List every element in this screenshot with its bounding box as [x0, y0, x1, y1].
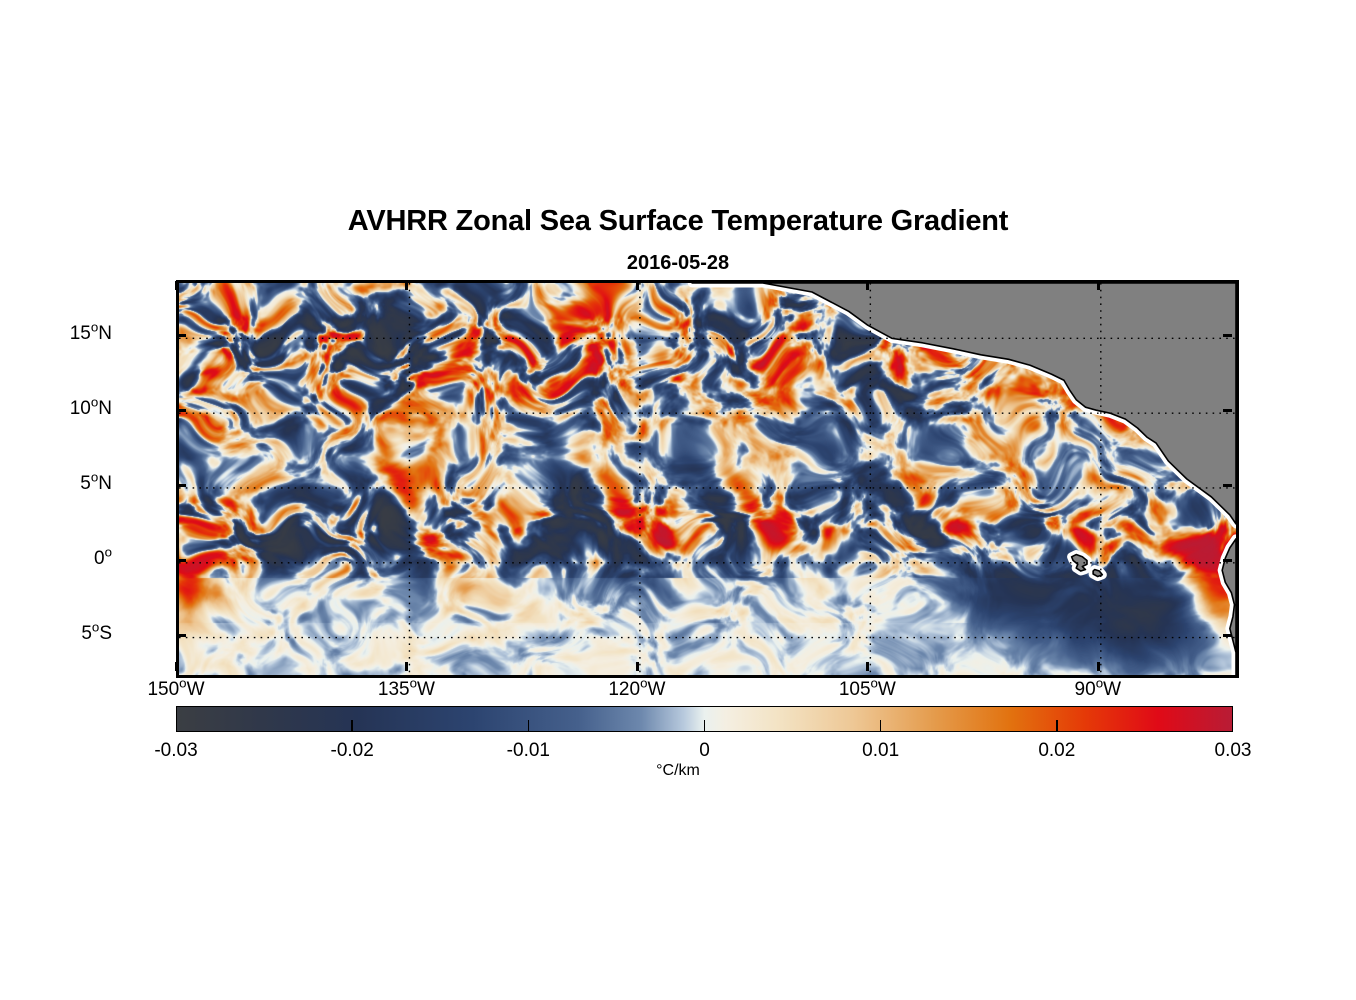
y-tick-mark [177, 634, 186, 637]
colorbar-tick-label: 0.03 [1215, 740, 1252, 762]
colorbar-tick-mark [704, 720, 706, 732]
y-tick-mark [177, 484, 186, 487]
colorbar-tick-label: -0.01 [507, 740, 550, 762]
colorbar [176, 706, 1233, 732]
colorbar-tick-mark [1056, 720, 1058, 732]
colorbar-tick-mark [880, 720, 882, 732]
map-plot-area [179, 283, 1236, 675]
y-tick-mark [1223, 334, 1232, 337]
x-tick-label: 90oW [1075, 680, 1121, 699]
x-tick-mark [175, 662, 178, 671]
gridlines-overlay [179, 283, 1236, 675]
y-tick-mark [177, 409, 186, 412]
colorbar-tick-label: -0.02 [331, 740, 374, 762]
colorbar-tick-mark [528, 720, 530, 732]
colorbar-tick-label: 0 [699, 740, 710, 762]
y-tick-label: 10oN [70, 399, 112, 418]
y-tick-mark [1223, 484, 1232, 487]
x-tick-mark [636, 662, 639, 671]
x-tick-mark [1097, 281, 1100, 290]
x-tick-mark [636, 281, 639, 290]
figure-root: AVHRR Zonal Sea Surface Temperature Grad… [0, 0, 1356, 1000]
x-tick-mark [866, 662, 869, 671]
y-tick-label: 5oN [80, 474, 112, 493]
x-tick-mark [866, 281, 869, 290]
colorbar-tick-label: 0.01 [862, 740, 899, 762]
x-tick-label: 135oW [378, 680, 435, 699]
x-tick-mark [175, 281, 178, 290]
y-tick-mark [1223, 409, 1232, 412]
x-tick-label: 120oW [608, 680, 665, 699]
colorbar-tick-mark [351, 720, 353, 732]
page-title: AVHRR Zonal Sea Surface Temperature Grad… [0, 205, 1356, 238]
y-tick-label: 5oS [81, 624, 112, 643]
x-tick-mark [405, 281, 408, 290]
x-tick-label: 105oW [839, 680, 896, 699]
y-tick-mark [1223, 634, 1232, 637]
y-tick-mark [1223, 559, 1232, 562]
map-axes [176, 280, 1239, 678]
y-tick-label: 0o [94, 549, 112, 568]
x-tick-mark [405, 662, 408, 671]
chart-subtitle-date: 2016-05-28 [0, 252, 1356, 275]
colorbar-tick-label: 0.02 [1038, 740, 1075, 762]
y-tick-mark [177, 559, 186, 562]
y-tick-mark [177, 334, 186, 337]
y-tick-label: 15oN [70, 324, 112, 343]
colorbar-tick-label: -0.03 [154, 740, 197, 762]
x-tick-label: 150oW [147, 680, 204, 699]
x-tick-mark [1097, 662, 1100, 671]
colorbar-unit-label: °C/km [0, 762, 1356, 780]
